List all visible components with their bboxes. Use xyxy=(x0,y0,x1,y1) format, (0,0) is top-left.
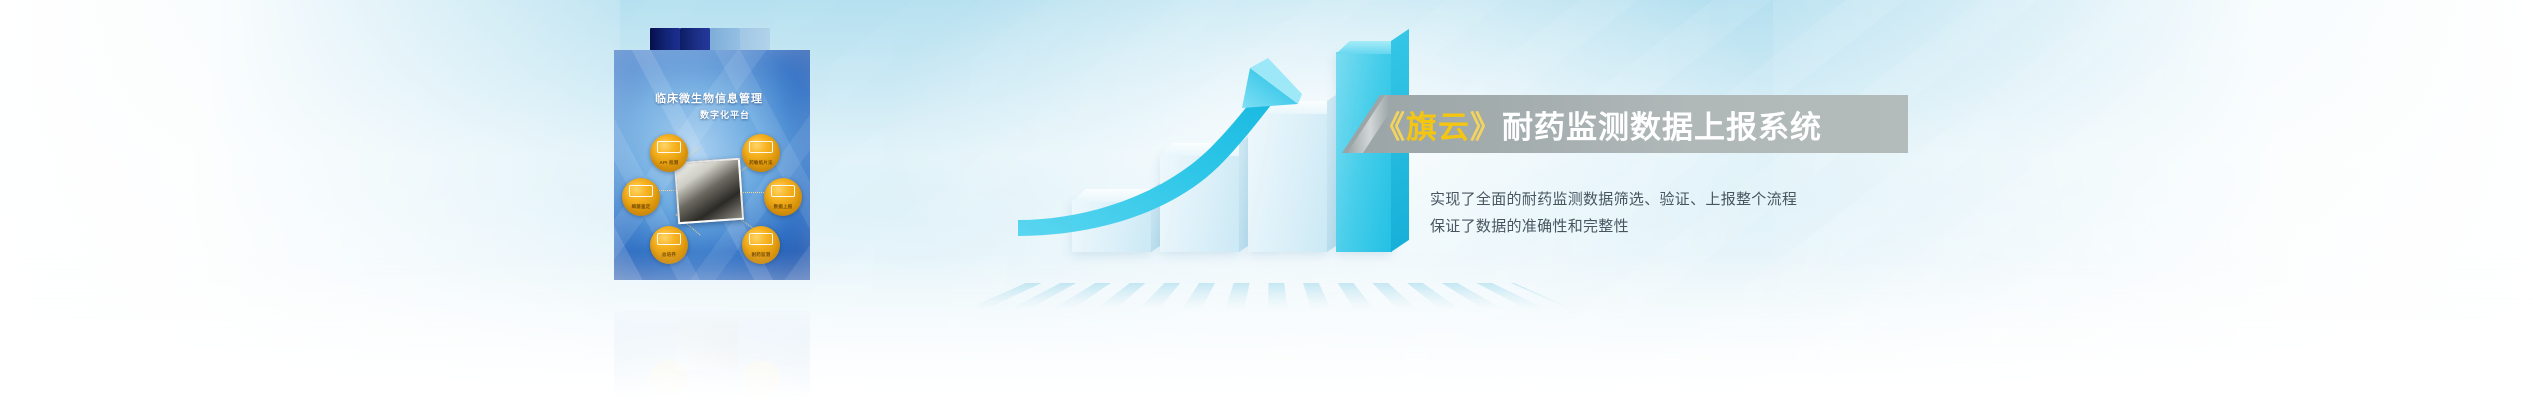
node-label: 药敏纸片法 xyxy=(742,160,780,166)
box-center-photo xyxy=(674,158,744,224)
chart-bar-2 xyxy=(1160,154,1240,252)
node-glyph xyxy=(771,185,795,197)
node-glyph xyxy=(749,233,773,245)
title-brand: 旗云 xyxy=(1406,102,1470,147)
subtitle-line-2: 保证了数据的准确性和完整性 xyxy=(1430,213,2050,240)
node-report: 数据上报 xyxy=(764,178,802,216)
promotional-banner: 旗云科技 旗云科技 旗云科技 旗云科技 xyxy=(0,0,2533,400)
background-bottom-fade xyxy=(0,250,2533,400)
node-glyph xyxy=(657,233,681,245)
product-box-front: 临床微生物信息管理 数字化平台 API 检测 药敏纸片法 细菌鉴定 xyxy=(614,50,810,280)
title-bracket-close: 》 xyxy=(1470,102,1502,147)
node-ident: 细菌鉴定 xyxy=(622,178,660,216)
box-title-line1: 临床微生物信息管理 xyxy=(614,90,804,106)
title-rest: 耐药监测数据上报系统 xyxy=(1502,102,1822,147)
node-label: 细菌鉴定 xyxy=(622,204,660,210)
box-title-line2: 数字化平台 xyxy=(614,108,810,121)
page-title: 《 旗云 》 耐药监测数据上报系统 xyxy=(1348,95,1914,153)
node-api: API 检测 xyxy=(650,134,688,172)
subtitle: 实现了全面的耐药监测数据筛选、验证、上报整个流程 保证了数据的准确性和完整性 xyxy=(1430,186,2050,240)
node-disk: 药敏纸片法 xyxy=(742,134,780,172)
node-label: 数据上报 xyxy=(764,204,802,210)
chart-bar-3 xyxy=(1248,112,1328,252)
node-glyph xyxy=(657,141,681,153)
chart-bar-1 xyxy=(1072,200,1152,252)
node-glyph xyxy=(749,141,773,153)
subtitle-line-1: 实现了全面的耐药监测数据筛选、验证、上报整个流程 xyxy=(1430,186,2050,213)
node-glyph xyxy=(629,185,653,197)
title-bracket-open: 《 xyxy=(1374,102,1406,147)
node-label: API 检测 xyxy=(650,160,688,166)
